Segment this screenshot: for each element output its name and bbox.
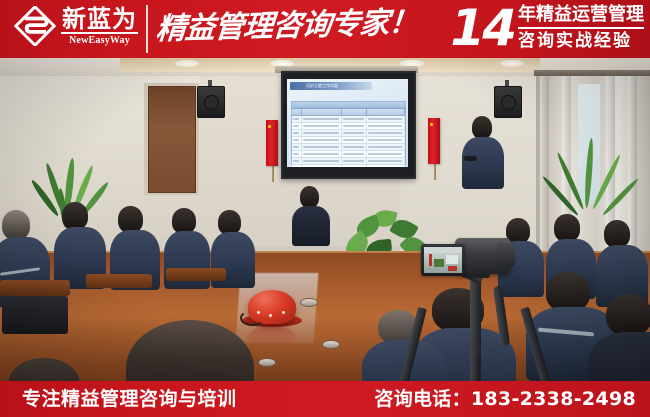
slide-table-header-row bbox=[292, 109, 405, 116]
footer-phone[interactable]: 咨询电话：183-2338-2498 bbox=[374, 381, 636, 417]
years-line-1: 年精益运营管理 bbox=[518, 3, 644, 26]
curtain-rod bbox=[534, 70, 650, 76]
wall-speaker-left-icon bbox=[197, 86, 225, 118]
helmet-reflection bbox=[248, 326, 296, 348]
chair-back bbox=[2, 296, 68, 334]
microphone-icon bbox=[464, 156, 477, 161]
logo-english-name: NewEasyWay bbox=[69, 36, 130, 46]
company-logo[interactable]: 新蓝为 NewEasyWay bbox=[14, 6, 138, 46]
logo-chinese-name: 新蓝为 bbox=[61, 7, 138, 34]
banner-footer: 专注精益管理咨询与培训 咨询电话：183-2338-2498 bbox=[0, 381, 650, 417]
presentation-slide: 培训主要工作内容 bbox=[287, 79, 408, 167]
chair bbox=[86, 274, 152, 288]
slide-table-row bbox=[292, 144, 405, 151]
years-number: 14 bbox=[450, 2, 514, 54]
slide-table-caption bbox=[292, 102, 405, 109]
slide-table-row bbox=[292, 123, 405, 130]
header-calligraphy-slogan: 精益管理咨询专家！ bbox=[154, 0, 408, 53]
header-divider bbox=[146, 5, 148, 53]
slide-title: 培训主要工作内容 bbox=[306, 83, 338, 89]
slide-title-bar: 培训主要工作内容 bbox=[290, 82, 372, 90]
slide-subtitle bbox=[291, 94, 403, 98]
slide-table-row bbox=[292, 116, 405, 123]
banner-header: 新蓝为 NewEasyWay 精益管理咨询专家！ 14 年精益运营管理 咨询实战… bbox=[0, 0, 650, 58]
presenter-body bbox=[462, 137, 504, 189]
slide-table-row bbox=[292, 130, 405, 137]
ceiling-light bbox=[175, 60, 199, 67]
room-door[interactable] bbox=[148, 86, 196, 193]
slide-table-row bbox=[292, 158, 405, 165]
chair bbox=[0, 280, 70, 296]
tripod-leg bbox=[472, 358, 480, 381]
camera-lcd-screen bbox=[424, 247, 462, 273]
footer-slogan: 专注精益管理咨询与培训 bbox=[22, 381, 237, 417]
chair bbox=[166, 268, 226, 281]
helmet-strap bbox=[240, 310, 264, 326]
camera-lens-hood bbox=[497, 243, 515, 267]
ceiling-light bbox=[500, 60, 524, 67]
slide-table bbox=[291, 101, 406, 165]
promo-banner: 新蓝为 NewEasyWay 精益管理咨询专家！ 14 年精益运营管理 咨询实战… bbox=[0, 0, 650, 417]
table-cable-port bbox=[258, 358, 276, 367]
slide-table-row bbox=[292, 165, 405, 167]
years-rule bbox=[518, 27, 644, 29]
newesayway-ribbon-logo-icon bbox=[14, 6, 56, 46]
table-cable-port bbox=[322, 340, 340, 349]
chinese-flag-right bbox=[428, 118, 440, 164]
years-line-2: 咨询实战经验 bbox=[518, 30, 644, 53]
slide-table-row bbox=[292, 151, 405, 158]
wall-speaker-right-icon bbox=[494, 86, 522, 118]
table-cable-port bbox=[300, 298, 318, 307]
projector-screen: 培训主要工作内容 bbox=[281, 71, 416, 179]
training-scene-photo: 培训主要工作内容 bbox=[0, 58, 650, 381]
camera-lcd-panel bbox=[421, 244, 465, 276]
chinese-flag-left bbox=[266, 120, 278, 166]
experience-years-block: 14 年精益运营管理 咨询实战经验 bbox=[450, 2, 644, 54]
slide-table-row bbox=[292, 137, 405, 144]
